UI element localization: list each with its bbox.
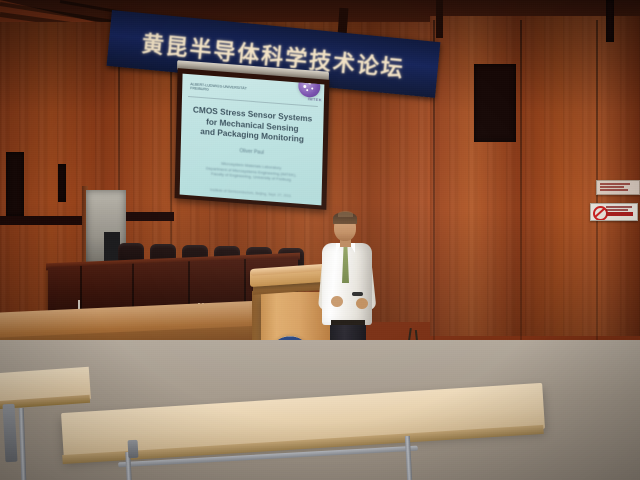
right-wall-shading	[430, 16, 640, 336]
slide-title: CMOS Stress Sensor Systems for Mechanica…	[181, 104, 324, 146]
projection-screen: ALBERT-LUDWIGS-UNIVERSITÄT FREIBURG IMTE…	[180, 74, 325, 206]
wall-inset-panel	[606, 0, 614, 42]
caution-sign	[596, 180, 640, 195]
table-leg-bracket	[128, 440, 139, 458]
speaker-belt	[331, 320, 365, 325]
wall-pilaster	[436, 0, 443, 38]
wall-trim-band	[118, 212, 174, 221]
university-logo-text: ALBERT-LUDWIGS-UNIVERSITÄT FREIBURG	[190, 82, 250, 95]
projection-screen-frame: ALBERT-LUDWIGS-UNIVERSITÄT FREIBURG IMTE…	[175, 68, 330, 210]
speaker-left-hand	[331, 296, 343, 307]
imtek-logo-label: IMTEK	[308, 96, 322, 102]
caution-sign-text	[600, 183, 637, 192]
wall-seam	[170, 40, 172, 270]
wall-inset-panel	[6, 152, 24, 216]
slide-author: Oliver Paul	[181, 144, 323, 161]
sign-red-band	[606, 212, 633, 216]
speaker-hair-highlight	[338, 211, 353, 217]
wall-inset-panel	[474, 64, 516, 142]
photo-scene: 黄昆半导体科学技术论坛 ALBERT-LUDWIGS-UNIVERSITÄT F…	[0, 0, 640, 480]
no-smoking-sign	[590, 203, 638, 221]
slide-affiliation: Microsystem Materials Laboratory Departm…	[180, 158, 322, 186]
wall-seam	[520, 20, 522, 350]
speaker-right-hand	[356, 298, 368, 309]
wall-seam	[596, 20, 598, 370]
wall-inset-panel	[58, 164, 66, 202]
slide-footer: Institute of Semiconductors, Beijing, Se…	[180, 186, 322, 201]
no-smoking-sign-text	[606, 206, 635, 216]
right-wall-panel	[430, 16, 640, 336]
speaker-wristwatch	[352, 292, 363, 296]
